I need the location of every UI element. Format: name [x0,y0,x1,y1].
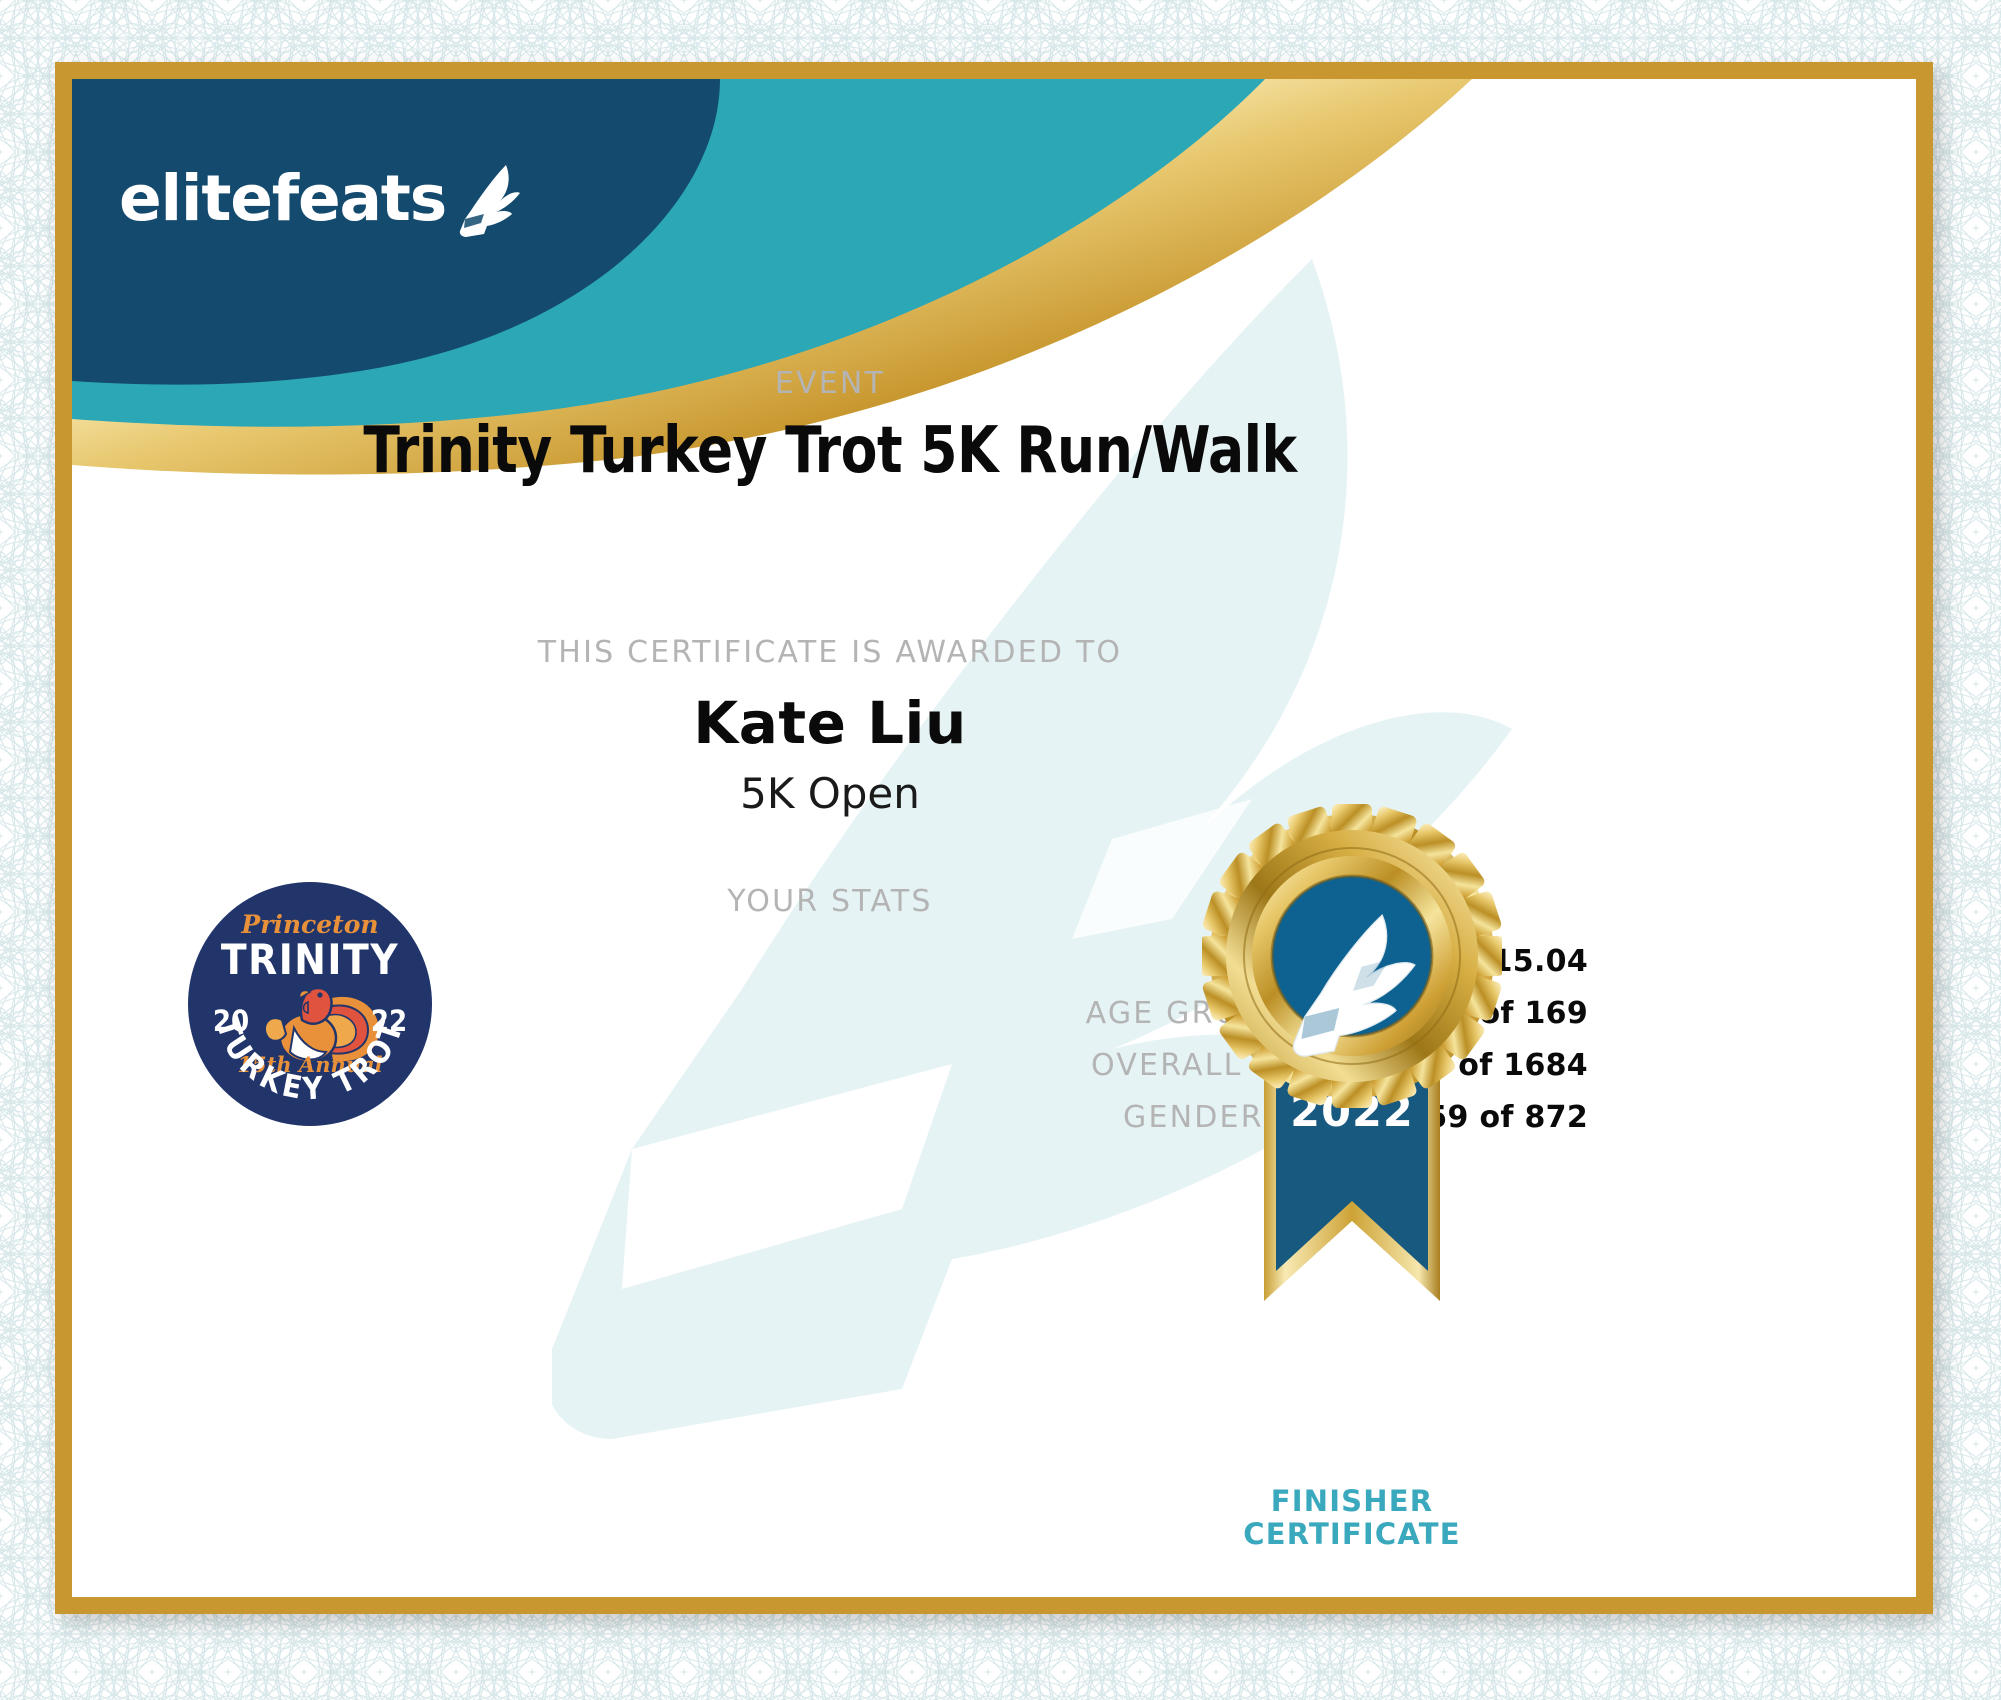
event-title: Trinity Turkey Trot 5K Run/Walk [125,414,1535,488]
certificate-frame: elitefeats EVENT Trinity Turkey Trot 5K … [55,62,1933,1614]
certificate-content: EVENT Trinity Turkey Trot 5K Run/Walk TH… [72,79,1916,1597]
awarded-to-label: THIS CERTIFICATE IS AWARDED TO [72,635,1588,670]
finisher-medal: 2022 [1202,801,1502,1481]
finisher-certificate-caption: FINISHER CERTIFICATE [1202,1485,1502,1552]
medal-starburst [1202,804,1502,1108]
badge-main-name: TRINITY [221,935,399,984]
event-label: EVENT [72,366,1588,401]
finisher-caption-line2: CERTIFICATE [1202,1518,1502,1551]
certificate-body: elitefeats EVENT Trinity Turkey Trot 5K … [72,79,1916,1597]
finisher-caption-line1: FINISHER [1202,1485,1502,1518]
recipient-name: Kate Liu [72,689,1588,757]
event-logo-badge: Princeton TRINITY 20 22 15th Annual TURK… [185,879,435,1129]
